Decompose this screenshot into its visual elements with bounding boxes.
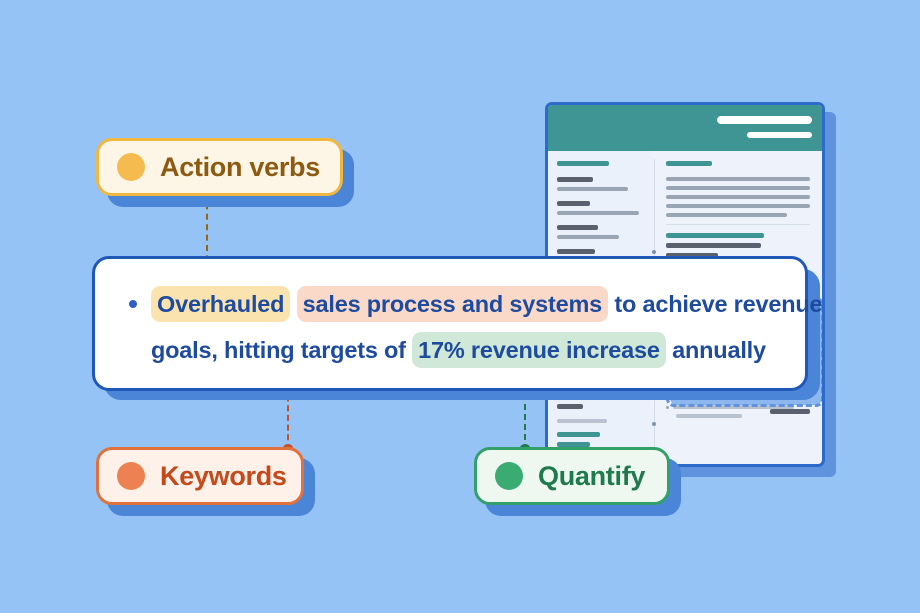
bullet-text-plain: to achieve revenue bbox=[614, 291, 822, 317]
doc-line-heading bbox=[557, 161, 609, 166]
doc-line bbox=[557, 187, 628, 191]
document-header-bar-primary bbox=[717, 116, 812, 124]
label-pill-action-verbs[interactable]: Action verbs bbox=[96, 138, 343, 196]
document-header-bar-secondary bbox=[747, 132, 812, 138]
orange-dot-icon bbox=[117, 462, 145, 490]
doc-bullet-row bbox=[666, 414, 810, 418]
doc-line bbox=[557, 225, 598, 230]
label-pill-quantify[interactable]: Quantify bbox=[474, 447, 670, 505]
green-dot-icon bbox=[495, 462, 523, 490]
doc-line bbox=[557, 211, 639, 215]
doc-bullet-icon bbox=[666, 406, 669, 409]
doc-timeline-dot-icon bbox=[652, 422, 656, 426]
doc-line-heading bbox=[666, 161, 712, 166]
label-action-verbs[interactable]: Action verbs bbox=[96, 138, 343, 196]
label-text: Quantify bbox=[538, 461, 645, 492]
label-pill-keywords[interactable]: Keywords bbox=[96, 447, 304, 505]
doc-line bbox=[770, 409, 810, 414]
doc-line bbox=[666, 243, 761, 248]
label-quantify[interactable]: Quantify bbox=[474, 447, 670, 505]
illustration-canvas: Overhauled sales process and systems to … bbox=[0, 0, 920, 613]
doc-line bbox=[557, 235, 619, 239]
bullet-dot-icon bbox=[129, 300, 137, 308]
doc-line bbox=[666, 204, 810, 208]
bullet-text-plain: goals, hitting targets of bbox=[151, 337, 406, 363]
doc-line bbox=[557, 404, 583, 409]
doc-timeline-dot-icon bbox=[652, 250, 656, 254]
doc-line bbox=[676, 414, 742, 418]
doc-line bbox=[666, 213, 787, 217]
label-keywords[interactable]: Keywords bbox=[96, 447, 304, 505]
highlight-keywords[interactable]: sales process and systems bbox=[297, 286, 608, 322]
doc-line bbox=[666, 186, 810, 190]
highlight-quantify[interactable]: 17% revenue increase bbox=[412, 332, 666, 368]
resume-bullet-card[interactable]: Overhauled sales process and systems to … bbox=[92, 256, 808, 391]
doc-line bbox=[666, 195, 810, 199]
doc-line bbox=[557, 177, 593, 182]
document-header-band bbox=[548, 105, 822, 151]
label-text: Keywords bbox=[160, 461, 287, 492]
doc-line bbox=[557, 249, 595, 254]
doc-line bbox=[557, 419, 607, 423]
bullet-text-plain: annually bbox=[672, 337, 766, 363]
doc-line bbox=[666, 177, 810, 181]
doc-line-heading bbox=[666, 233, 764, 238]
bullet-line-2: goals, hitting targets of 17% revenue in… bbox=[121, 327, 779, 373]
doc-separator bbox=[666, 224, 810, 225]
highlight-action-verb[interactable]: Overhauled bbox=[151, 286, 290, 322]
bullet-line-1: Overhauled sales process and systems to … bbox=[121, 281, 779, 327]
label-text: Action verbs bbox=[160, 152, 320, 183]
doc-line-heading bbox=[557, 432, 600, 437]
doc-line bbox=[557, 201, 590, 206]
amber-dot-icon bbox=[117, 153, 145, 181]
